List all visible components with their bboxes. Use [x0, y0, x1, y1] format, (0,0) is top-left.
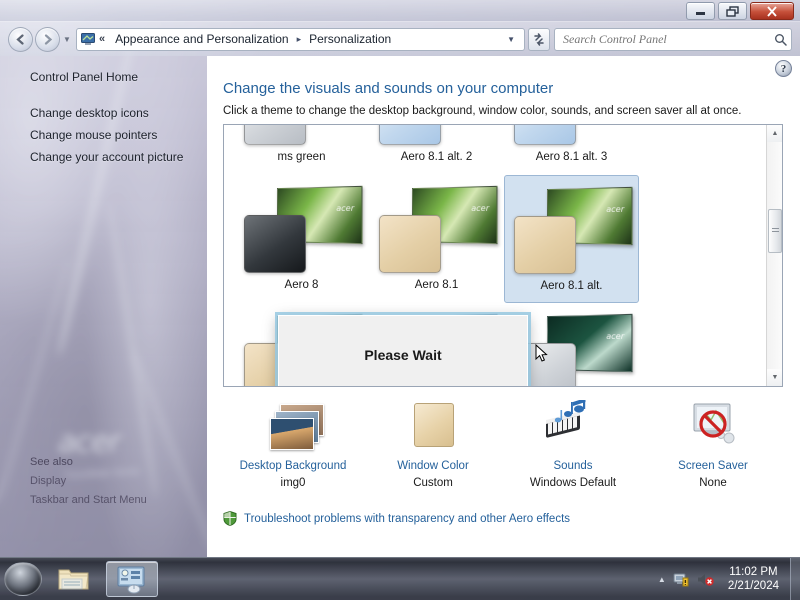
setting-sounds[interactable]: Sounds Windows Default [503, 400, 643, 489]
page-subtitle: Click a theme to change the desktop back… [207, 97, 800, 117]
window-glass-preview [514, 124, 576, 145]
see-also-item-taskbar-start-menu[interactable]: Taskbar and Start Menu [30, 494, 147, 506]
start-orb-icon[interactable] [4, 562, 42, 596]
gallery-scrollbar[interactable]: ▲ ▼ [766, 125, 782, 386]
dialog-message: Please Wait [364, 347, 441, 363]
troubleshoot-link-row[interactable]: Troubleshoot problems with transparency … [223, 511, 570, 526]
window-controls [686, 2, 794, 20]
scrollbar-thumb[interactable] [768, 209, 782, 253]
help-icon[interactable]: ? [775, 60, 792, 77]
theme-item-selected[interactable]: acer Aero 8.1 alt. [504, 175, 639, 303]
theme-name: Aero 8.1 alt. 2 [401, 151, 473, 163]
refresh-icon[interactable] [528, 28, 550, 51]
troubleshoot-link-label[interactable]: Troubleshoot problems with transparency … [244, 513, 570, 525]
sidebar-item-change-account-picture[interactable]: Change your account picture [30, 150, 207, 164]
sidebar-item-control-panel-home[interactable]: Control Panel Home [30, 70, 207, 84]
window-titlebar[interactable] [0, 0, 800, 22]
search-box[interactable] [554, 28, 792, 51]
taskbar: ▲ 11:02 PM 2/21/2024 [0, 557, 800, 600]
theme-name: ms green [278, 151, 326, 163]
see-also-section: See also Display Taskbar and Start Menu [30, 456, 147, 513]
setting-label[interactable]: Desktop Background [240, 460, 347, 472]
taskbar-item-control-panel[interactable] [106, 561, 158, 597]
sounds-icon [542, 400, 604, 452]
breadcrumb-personalization[interactable]: Personalization [303, 30, 397, 48]
setting-label[interactable]: Window Color [397, 460, 469, 472]
volume-muted-icon[interactable] [697, 572, 714, 587]
sidebar: Control Panel Home Change desktop icons … [0, 56, 207, 557]
theme-thumbnail: acer [242, 181, 362, 277]
see-also-header: See also [30, 456, 147, 468]
theme-name: Aero 8.1 alt. 3 [536, 151, 608, 163]
folder-icon [57, 564, 91, 594]
clock-time: 11:02 PM [728, 565, 779, 579]
breadcrumb-separator-icon: ▸ [295, 34, 304, 45]
theme-row: acer Aero 8 acer Aero 8.1 [224, 175, 767, 303]
control-panel-icon [79, 33, 97, 46]
forward-arrow-icon[interactable] [35, 27, 60, 52]
close-icon[interactable] [750, 2, 794, 20]
color-swatch-icon [402, 400, 464, 452]
control-panel-icon [115, 564, 149, 594]
network-warning-icon[interactable] [673, 572, 690, 587]
setting-value: img0 [281, 477, 306, 489]
taskbar-clock[interactable]: 11:02 PM 2/21/2024 [721, 565, 786, 593]
navigation-bar: ▼ « Appearance and Personalization ▸ Per… [0, 22, 800, 56]
address-overflow-icon[interactable]: « [97, 33, 109, 45]
theme-thumbnail: acer [377, 181, 497, 277]
theme-thumbnail: MS ONE [242, 124, 362, 149]
see-also-item-display[interactable]: Display [30, 475, 147, 487]
minimize-icon[interactable] [686, 2, 715, 20]
theme-row: MS ONE ms green acer Aero 8.1 alt. 2 [224, 124, 767, 175]
setting-desktop-background[interactable]: Desktop Background img0 [223, 400, 363, 489]
theme-thumbnail: acer [512, 182, 632, 278]
window-glass-preview [379, 215, 441, 273]
search-input[interactable] [563, 32, 774, 47]
window-glass-preview [514, 216, 576, 274]
theme-thumbnail: acer [512, 124, 632, 149]
theme-item[interactable]: MS ONE ms green [234, 124, 369, 175]
theme-item[interactable]: acer Aero 8.1 alt. 3 [504, 124, 639, 175]
recent-pages-chevron-down-icon[interactable]: ▼ [60, 35, 74, 44]
breadcrumb-appearance[interactable]: Appearance and Personalization [109, 30, 294, 48]
sidebar-item-change-mouse-pointers[interactable]: Change mouse pointers [30, 128, 207, 142]
setting-window-color[interactable]: Window Color Custom [363, 400, 503, 489]
pictures-icon [262, 400, 324, 452]
system-tray: ▲ 11:02 PM 2/21/2024 [658, 565, 790, 593]
setting-value: None [699, 477, 727, 489]
theme-item[interactable]: acer Aero 8.1 alt. 2 [369, 124, 504, 175]
breadcrumb-chevron-down-icon[interactable]: ▼ [500, 35, 522, 44]
show-desktop-button[interactable] [790, 558, 800, 600]
control-panel-window: ▼ « Appearance and Personalization ▸ Per… [0, 0, 800, 557]
sidebar-item-change-desktop-icons[interactable]: Change desktop icons [30, 106, 207, 120]
scroll-down-icon[interactable]: ▼ [767, 369, 783, 386]
setting-value: Windows Default [530, 477, 616, 489]
setting-label[interactable]: Sounds [553, 460, 592, 472]
please-wait-dialog: Please Wait [278, 315, 528, 387]
restore-icon[interactable] [718, 2, 747, 20]
scroll-up-icon[interactable]: ▲ [767, 125, 783, 142]
address-bar[interactable]: « Appearance and Personalization ▸ Perso… [76, 28, 525, 51]
scrollbar-grip-icon [772, 228, 779, 234]
theme-thumbnail: acer [377, 124, 497, 149]
window-glass-preview [244, 215, 306, 273]
setting-value: Custom [413, 477, 453, 489]
window-glass-preview [244, 124, 306, 145]
setting-screen-saver[interactable]: Screen Saver None [643, 400, 783, 489]
setting-label[interactable]: Screen Saver [678, 460, 748, 472]
theme-name: Aero 8.1 alt. [540, 280, 602, 292]
clock-date: 2/21/2024 [728, 579, 779, 593]
theme-item[interactable]: acer Aero 8 [234, 175, 369, 303]
content-pane: ? Change the visuals and sounds on your … [207, 56, 800, 557]
theme-item[interactable]: acer Aero 8.1 [369, 175, 504, 303]
shield-icon [223, 511, 237, 526]
back-arrow-icon[interactable] [8, 27, 33, 52]
theme-thumbnail: acer [512, 309, 632, 387]
theme-name: Aero 8 [285, 279, 319, 291]
tray-expand-icon[interactable]: ▲ [658, 575, 666, 584]
mouse-cursor-icon [535, 344, 548, 363]
page-title: Change the visuals and sounds on your co… [207, 56, 800, 97]
settings-row: Desktop Background img0 Window Color Cus… [223, 400, 783, 489]
search-icon[interactable] [774, 33, 787, 46]
screen-saver-icon [682, 400, 744, 452]
taskbar-item-windows-explorer[interactable] [48, 561, 100, 597]
theme-gallery[interactable]: MS ONE ms green acer Aero 8.1 alt. 2 [223, 124, 783, 387]
window-glass-preview [379, 124, 441, 145]
theme-name: Aero 8.1 [415, 279, 458, 291]
